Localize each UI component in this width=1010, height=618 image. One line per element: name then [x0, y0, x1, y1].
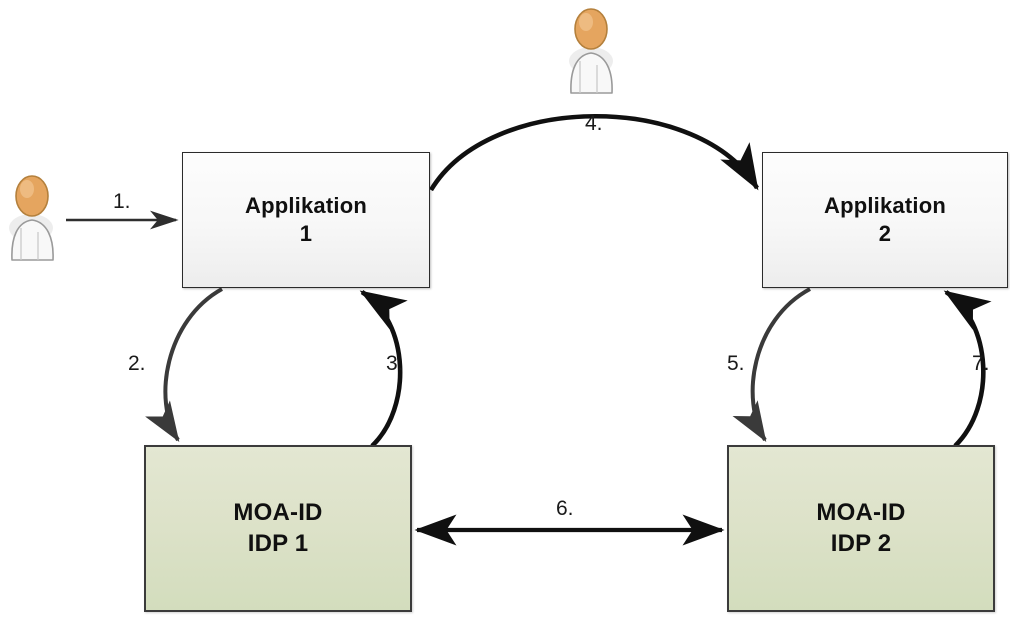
step-label-1: 1.	[113, 190, 131, 214]
node-moa-id-idp-1[interactable]: MOA-ID IDP 1	[144, 445, 412, 612]
connector-step-2	[165, 289, 222, 440]
node-applikation-1-line2: 1	[300, 220, 312, 248]
step-label-6: 6.	[556, 497, 574, 521]
user-actor-left	[5, 172, 61, 264]
connector-step-5	[753, 289, 810, 440]
node-moa-id-idp-2-line2: IDP 2	[831, 529, 892, 560]
step-label-5: 5.	[727, 352, 745, 376]
diagram-canvas: Applikation 1 Applikation 2 MOA-ID IDP 1…	[0, 0, 1010, 618]
step-label-4: 4.	[585, 112, 603, 136]
step-label-7: 7.	[972, 352, 990, 376]
node-moa-id-idp-2-line1: MOA-ID	[816, 498, 905, 529]
step-label-2: 2.	[128, 352, 146, 376]
node-applikation-1[interactable]: Applikation 1	[182, 152, 430, 288]
node-applikation-2[interactable]: Applikation 2	[762, 152, 1008, 288]
node-applikation-1-line1: Applikation	[245, 192, 367, 220]
node-applikation-2-line2: 2	[879, 220, 891, 248]
user-actor-top	[563, 5, 621, 97]
node-moa-id-idp-1-line1: MOA-ID	[233, 498, 322, 529]
node-moa-id-idp-2[interactable]: MOA-ID IDP 2	[727, 445, 995, 612]
node-applikation-2-line1: Applikation	[824, 192, 946, 220]
step-label-3: 3.	[386, 352, 404, 376]
node-moa-id-idp-1-line2: IDP 1	[248, 529, 309, 560]
